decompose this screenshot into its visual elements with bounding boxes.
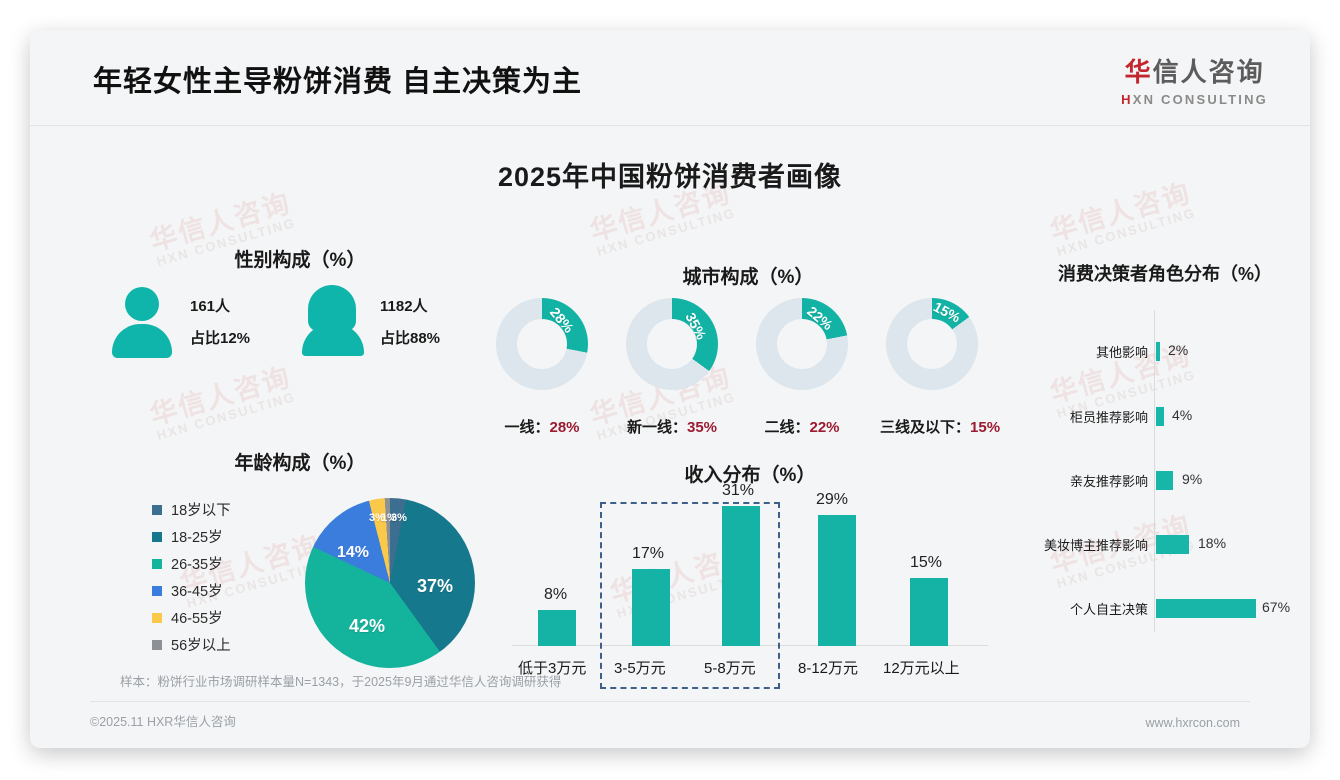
decision-value: 4% bbox=[1172, 407, 1192, 423]
decision-value: 9% bbox=[1182, 471, 1202, 487]
legend-swatch bbox=[152, 586, 162, 596]
logo-text-cn: 华信人咨询 bbox=[1121, 52, 1268, 89]
pie-value-under-18: 3% bbox=[391, 512, 407, 524]
decision-bar bbox=[1156, 535, 1189, 554]
watermark-en: HXN CONSULTING bbox=[155, 390, 298, 443]
income-bar-value: 8% bbox=[544, 586, 567, 604]
income-bar-category: 5-8万元 bbox=[704, 657, 756, 678]
logo-cn-rest: 信人咨询 bbox=[1153, 57, 1265, 87]
donut-caption: 二线：22% bbox=[750, 416, 854, 437]
legend-swatch bbox=[152, 505, 162, 515]
legend-swatch bbox=[152, 640, 162, 650]
income-bar-value: 31% bbox=[722, 482, 754, 500]
legend-label: 18岁以下 bbox=[171, 499, 231, 520]
legend-item: 46-55岁 bbox=[152, 604, 231, 631]
legend-label: 26-35岁 bbox=[171, 553, 223, 574]
decision-role-title: 消费决策者角色分布（%） bbox=[1020, 260, 1310, 286]
income-bar-category: 8-12万元 bbox=[798, 657, 858, 678]
pie-value-18-25: 37% bbox=[417, 576, 453, 597]
legend-swatch bbox=[152, 559, 162, 569]
donut-caption: 新一线：35% bbox=[620, 416, 724, 437]
female-share: 占比88% bbox=[380, 327, 440, 348]
income-bar bbox=[538, 610, 576, 646]
donut-caption: 三线及以下：15% bbox=[880, 416, 984, 437]
legend-label: 56岁以上 bbox=[171, 634, 231, 655]
income-bar-value: 15% bbox=[910, 554, 942, 572]
pie-value-26-35: 42% bbox=[349, 616, 385, 637]
donut-item: 35% 新一线：35% bbox=[620, 298, 724, 390]
city-donut-chart: 15% bbox=[886, 298, 978, 390]
legend-item: 56岁以上 bbox=[152, 631, 231, 658]
pie-value-36-45: 14% bbox=[337, 544, 369, 562]
brand-logo: 华信人咨询 HXN CONSULTING bbox=[1121, 52, 1268, 107]
income-bar-value: 29% bbox=[816, 491, 848, 509]
decision-row: 柜员推荐影响 4% bbox=[1020, 403, 1310, 429]
donut-item: 22% 二线：22% bbox=[750, 298, 854, 390]
logo-text-en: HXN CONSULTING bbox=[1121, 92, 1268, 107]
decision-label: 亲友推荐影响 bbox=[1070, 471, 1148, 490]
watermark-en: HXN CONSULTING bbox=[595, 206, 738, 259]
legend-label: 46-55岁 bbox=[171, 607, 223, 628]
income-bar-category: 3-5万元 bbox=[614, 657, 666, 678]
income-bar-value: 17% bbox=[632, 545, 664, 563]
decision-bar bbox=[1156, 471, 1173, 490]
income-bar bbox=[910, 578, 948, 646]
page-title: 年轻女性主导粉饼消费 自主决策为主 bbox=[93, 58, 582, 100]
legend-swatch bbox=[152, 613, 162, 623]
logo-cn-accent: 华 bbox=[1125, 57, 1153, 87]
age-section: 年龄构成（%） 18岁以下 18-25岁 26-35岁 36-45岁 46-55… bbox=[90, 448, 510, 683]
legend-item: 18岁以下 bbox=[152, 496, 231, 523]
age-title: 年龄构成（%） bbox=[90, 448, 510, 475]
male-person-icon bbox=[112, 287, 172, 358]
gender-title: 性别构成（%） bbox=[90, 245, 510, 272]
decision-row: 个人自主决策 67% bbox=[1020, 595, 1310, 621]
income-bar bbox=[632, 569, 670, 646]
copyright-text: ©2025.11 HXR华信人咨询 bbox=[90, 711, 236, 730]
city-donut-chart: 22% bbox=[756, 298, 848, 390]
male-share: 占比12% bbox=[190, 327, 250, 348]
age-legend: 18岁以下 18-25岁 26-35岁 36-45岁 46-55岁 56岁以上 bbox=[152, 496, 231, 658]
infographic-card: 华信人咨询 HXN CONSULTING 华信人咨询 HXN CONSULTIN… bbox=[30, 30, 1310, 748]
city-section: 城市构成（%） 28% 一线：28% 35% 新一线：35% 22% bbox=[478, 262, 1018, 407]
donut-item: 28% 一线：28% bbox=[490, 298, 594, 390]
age-pie-chart: 37% 42% 14% 3% 1% 3% bbox=[305, 498, 475, 668]
decision-label: 个人自主决策 bbox=[1070, 599, 1148, 618]
decision-value: 18% bbox=[1198, 535, 1226, 551]
decision-value: 67% bbox=[1262, 599, 1290, 615]
donut-caption: 一线：28% bbox=[490, 416, 594, 437]
legend-item: 18-25岁 bbox=[152, 523, 231, 550]
main-chart-title: 2025年中国粉饼消费者画像 bbox=[30, 155, 1310, 194]
decision-label: 其他影响 bbox=[1096, 342, 1148, 361]
decision-bar bbox=[1156, 342, 1160, 361]
female-person-icon bbox=[302, 283, 364, 355]
decision-bar bbox=[1156, 407, 1164, 426]
decision-row: 美妆博主推荐影响 18% bbox=[1020, 531, 1310, 557]
legend-item: 26-35岁 bbox=[152, 550, 231, 577]
decision-label: 美妆博主推荐影响 bbox=[1044, 535, 1148, 554]
legend-item: 36-45岁 bbox=[152, 577, 231, 604]
city-donut-chart: 35% bbox=[626, 298, 718, 390]
gender-section: 性别构成（%） 161人 占比12% 1182人 占比88% bbox=[90, 245, 510, 375]
watermark-en: HXN CONSULTING bbox=[1055, 206, 1198, 259]
income-bar bbox=[722, 506, 760, 646]
decision-row: 其他影响 2% bbox=[1020, 338, 1310, 364]
decision-label: 柜员推荐影响 bbox=[1070, 407, 1148, 426]
income-bar bbox=[818, 515, 856, 646]
website-text: www.hxrcon.com bbox=[1146, 716, 1240, 730]
decision-bar bbox=[1156, 599, 1256, 618]
income-section: 收入分布（%） 8% 低于3万元 17% 3-5万元 31% 5-8万元 29%… bbox=[500, 460, 1000, 692]
male-count: 161人 bbox=[190, 295, 230, 316]
city-donut-chart: 28% bbox=[496, 298, 588, 390]
donut-item: 15% 三线及以下：15% bbox=[880, 298, 984, 390]
legend-swatch bbox=[152, 532, 162, 542]
legend-label: 18-25岁 bbox=[171, 526, 223, 547]
decision-row: 亲友推荐影响 9% bbox=[1020, 467, 1310, 493]
header: 年轻女性主导粉饼消费 自主决策为主 华信人咨询 HXN CONSULTING bbox=[30, 30, 1310, 126]
footer-divider bbox=[90, 701, 1250, 702]
logo-en-rest: XN CONSULTING bbox=[1133, 92, 1268, 107]
legend-label: 36-45岁 bbox=[171, 580, 223, 601]
city-title: 城市构成（%） bbox=[478, 262, 1018, 289]
decision-value: 2% bbox=[1168, 342, 1188, 358]
female-count: 1182人 bbox=[380, 295, 428, 316]
income-bar-category: 12万元以上 bbox=[883, 657, 960, 678]
sample-note: 样本：粉饼行业市场调研样本量N=1343，于2025年9月通过华信人咨询调研获得 bbox=[120, 671, 561, 690]
decision-role-section: 消费决策者角色分布（%） 其他影响 2% 柜员推荐影响 4% 亲友推荐影响 9%… bbox=[1020, 260, 1310, 640]
logo-en-accent: H bbox=[1121, 92, 1133, 107]
